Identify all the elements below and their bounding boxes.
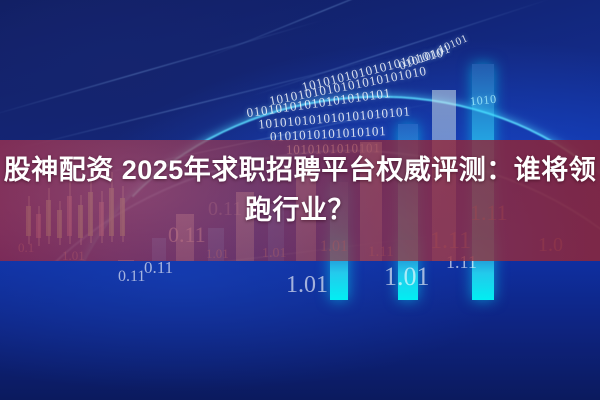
page-title: 股神配资 2025年求职招聘平台权威评测：谁将领 跑行业？ [0, 150, 600, 230]
headline-line-2: 跑行业？ [0, 190, 600, 230]
banner-image: 1010101010101010101010101010101010101010… [0, 0, 600, 400]
decimal-number: 0.11 [118, 268, 145, 286]
decimal-number: 0.11 [144, 258, 173, 278]
decimal-number: 1.01 [286, 272, 328, 299]
headline-line-1: 股神配资 2025年求职招聘平台权威评测：谁将领 [0, 150, 600, 190]
decimal-number: 1.01 [384, 262, 430, 292]
